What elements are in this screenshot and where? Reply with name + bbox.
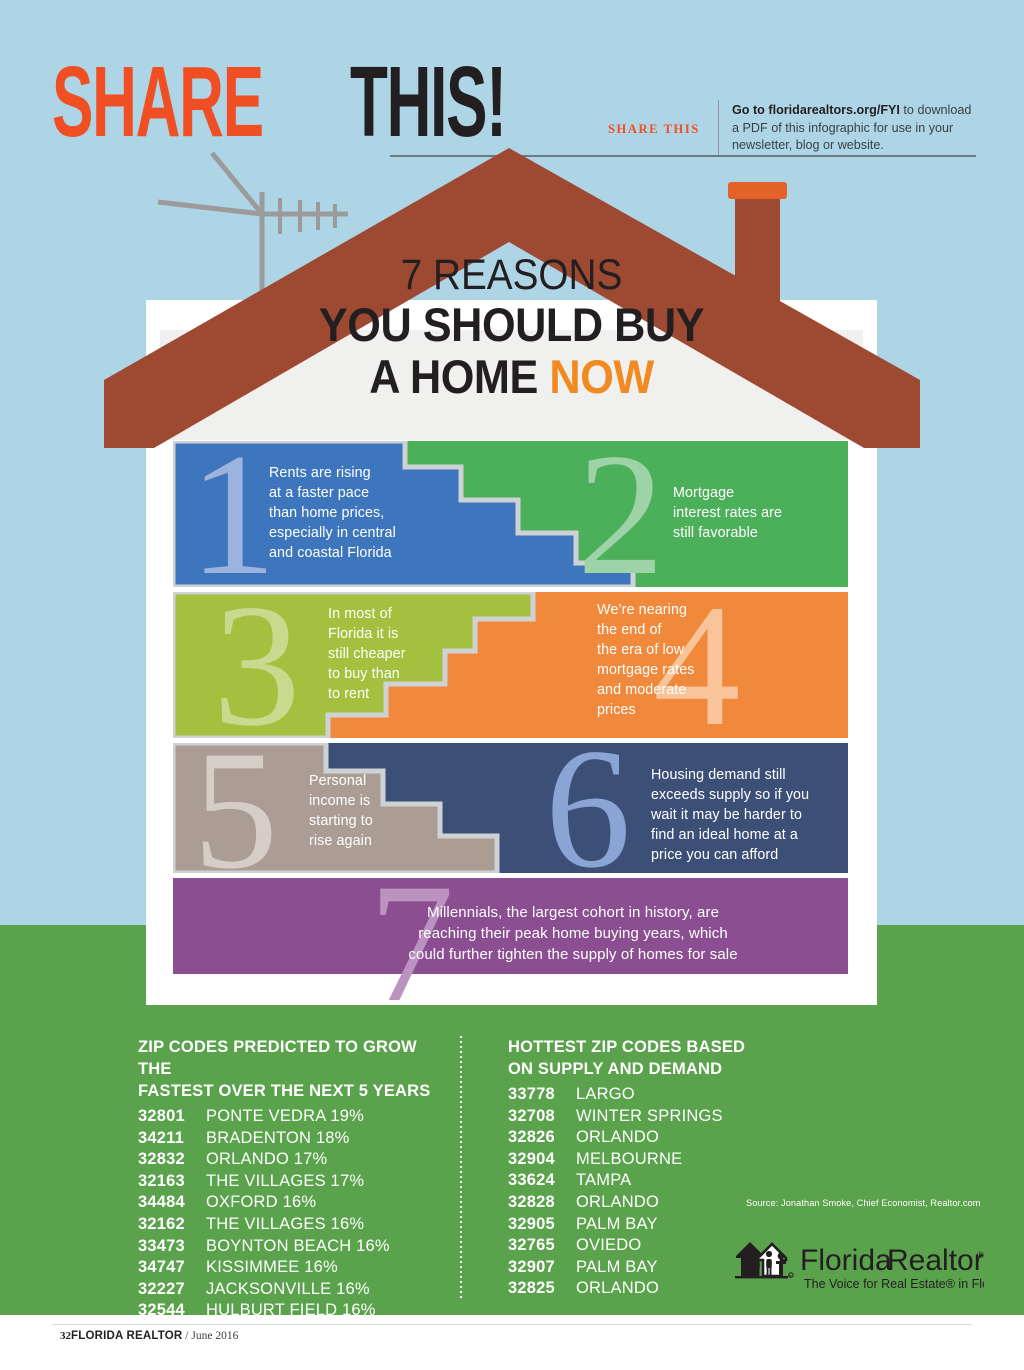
zip-city: WINTER SPRINGS bbox=[576, 1106, 723, 1128]
reason-5-text-line: rise again bbox=[309, 831, 449, 851]
reason-row-3: 5 6 Personal income is starting to rise … bbox=[173, 743, 848, 873]
logo-tagline: The Voice for Real Estate® in Florida bbox=[804, 1277, 984, 1291]
reason-3-text-line: still cheaper bbox=[328, 644, 488, 664]
page-footer: 32FLORIDA REALTOR / June 2016 bbox=[60, 1330, 238, 1342]
chimney-cap bbox=[728, 182, 787, 199]
zip-row: 32227JACKSONVILLE 16% bbox=[138, 1279, 454, 1301]
zip-code: 33473 bbox=[138, 1236, 206, 1258]
zip-list-hottest-heading: HOTTEST ZIP CODES BASED ON SUPPLY AND DE… bbox=[508, 1036, 824, 1080]
logo-wordmark-realtors: Realtors bbox=[887, 1244, 984, 1277]
zip-code: 34484 bbox=[138, 1192, 206, 1214]
reason-3-text-line: In most of bbox=[328, 604, 488, 624]
florida-realtors-logo: R Florida Realtors ® The Voice for Real … bbox=[732, 1232, 984, 1294]
reason-3-text-line: to rent bbox=[328, 684, 488, 704]
zip-row: 32904MELBOURNE bbox=[508, 1149, 824, 1171]
logo-houses-icon: R bbox=[735, 1242, 793, 1278]
reason-4-text-line: mortgage rates bbox=[597, 660, 757, 680]
zip-city: TAMPA bbox=[576, 1170, 631, 1192]
logo-wordmark-florida: Florida bbox=[800, 1244, 892, 1277]
reason-5-numeral: 5 bbox=[193, 725, 278, 895]
zip-list-growth: ZIP CODES PREDICTED TO GROW THE FASTEST … bbox=[138, 1036, 454, 1322]
reason-4-text-line: We’re nearing bbox=[597, 600, 757, 620]
reason-5-text-line: Personal bbox=[309, 771, 449, 791]
zip-row: 32163THE VILLAGES 17% bbox=[138, 1171, 454, 1193]
svg-text:R: R bbox=[789, 1274, 792, 1278]
zip-code: 32828 bbox=[508, 1192, 576, 1214]
zip-row: 34211BRADENTON 18% bbox=[138, 1128, 454, 1150]
reason-6-text-line: Housing demand still bbox=[651, 765, 851, 785]
reason-6-text: Housing demand still exceeds supply so i… bbox=[651, 765, 851, 865]
zip-city: OVIEDO bbox=[576, 1235, 641, 1257]
zip-code: 32832 bbox=[138, 1149, 206, 1171]
zip-code: 32904 bbox=[508, 1149, 576, 1171]
reason-6-text-line: exceeds supply so if you bbox=[651, 785, 851, 805]
share-this-wordmark: SHARETHIS! bbox=[52, 52, 601, 152]
zip-heading-line: ZIP CODES PREDICTED TO GROW THE bbox=[138, 1036, 454, 1080]
reason-2-text: Mortgage interest rates are still favora… bbox=[673, 483, 848, 543]
reason-4-text-line: the end of bbox=[597, 620, 757, 640]
zip-city: LARGO bbox=[576, 1084, 635, 1106]
roof-shape bbox=[104, 148, 920, 448]
zip-row: 32162THE VILLAGES 16% bbox=[138, 1214, 454, 1236]
zip-code: 32905 bbox=[508, 1214, 576, 1236]
zip-city: OXFORD 16% bbox=[206, 1192, 316, 1214]
reason-1-text-line: than home prices, bbox=[269, 503, 459, 523]
zip-city: ORLANDO 17% bbox=[206, 1149, 327, 1171]
zip-code: 32826 bbox=[508, 1127, 576, 1149]
zip-list-growth-rows: 32801PONTE VEDRA 19% 34211BRADENTON 18% … bbox=[138, 1106, 454, 1322]
zip-city: MELBOURNE bbox=[576, 1149, 682, 1171]
reason-2-text-line: interest rates are bbox=[673, 503, 848, 523]
zip-heading-line: ON SUPPLY AND DEMAND bbox=[508, 1058, 824, 1080]
zip-city: THE VILLAGES 17% bbox=[206, 1171, 364, 1193]
zip-row: 32826ORLANDO bbox=[508, 1127, 824, 1149]
footer-magazine-name: FLORIDA REALTOR bbox=[71, 1330, 182, 1342]
zip-row: 32801PONTE VEDRA 19% bbox=[138, 1106, 454, 1128]
zip-code: 34211 bbox=[138, 1128, 206, 1150]
zip-city: ORLANDO bbox=[576, 1192, 659, 1214]
zip-row: 33624TAMPA bbox=[508, 1170, 824, 1192]
reason-1-text-line: Rents are rising bbox=[269, 463, 459, 483]
reason-row-1: 1 2 Rents are rising at a faster pace th… bbox=[173, 441, 848, 587]
header-note-bold: Go to floridarealtors.org/FYI bbox=[732, 103, 900, 117]
zip-row: 33778LARGO bbox=[508, 1084, 824, 1106]
zip-row: 32832ORLANDO 17% bbox=[138, 1149, 454, 1171]
footer-date: June 2016 bbox=[191, 1330, 238, 1342]
zip-code: 32163 bbox=[138, 1171, 206, 1193]
reason-1-text-line: especially in central bbox=[269, 523, 459, 543]
reason-4-text-line: the era of low bbox=[597, 640, 757, 660]
zip-city: JACKSONVILLE 16% bbox=[206, 1279, 370, 1301]
reason-2-text-line: Mortgage bbox=[673, 483, 848, 503]
zip-heading-line: FASTEST OVER THE NEXT 5 YEARS bbox=[138, 1080, 454, 1102]
zip-city: PALM BAY bbox=[576, 1214, 658, 1236]
zip-city: PONTE VEDRA 19% bbox=[206, 1106, 364, 1128]
reason-7-text-line: reaching their peak home buying years, w… bbox=[323, 923, 823, 944]
reason-7-text-line: could further tighten the supply of home… bbox=[323, 944, 823, 965]
reason-3-text-line: to buy than bbox=[328, 664, 488, 684]
zip-code: 33624 bbox=[508, 1170, 576, 1192]
zip-city: BOYNTON BEACH 16% bbox=[206, 1236, 390, 1258]
reason-6-text-line: price you can afford bbox=[651, 845, 851, 865]
reason-2-text-line: still favorable bbox=[673, 523, 848, 543]
footer-rule bbox=[52, 1324, 972, 1325]
reason-1-text-line: and coastal Florida bbox=[269, 543, 459, 563]
zip-code: 32907 bbox=[508, 1257, 576, 1279]
reason-1-text: Rents are rising at a faster pace than h… bbox=[269, 463, 459, 563]
footer-page-number: 32 bbox=[60, 1330, 71, 1342]
wordmark-this: THIS! bbox=[350, 52, 506, 152]
reason-7-text-line: Millennials, the largest cohort in histo… bbox=[323, 902, 823, 923]
zip-code: 34747 bbox=[138, 1257, 206, 1279]
zip-code: 32708 bbox=[508, 1106, 576, 1128]
reason-5-text: Personal income is starting to rise agai… bbox=[309, 771, 449, 851]
header-note: Go to floridarealtors.org/FYI to downloa… bbox=[732, 102, 976, 155]
reason-4-text-line: and moderate bbox=[597, 680, 757, 700]
zip-city: ORLANDO bbox=[576, 1127, 659, 1149]
zip-city: THE VILLAGES 16% bbox=[206, 1214, 364, 1236]
reason-4-text: We’re nearing the end of the era of low … bbox=[597, 600, 757, 720]
share-this-label: SHARE THIS bbox=[608, 122, 700, 137]
zip-row: 34747KISSIMMEE 16% bbox=[138, 1257, 454, 1279]
zip-city: PALM BAY bbox=[576, 1257, 658, 1279]
zip-city: ORLANDO bbox=[576, 1278, 659, 1300]
reason-3-text-line: Florida it is bbox=[328, 624, 488, 644]
zip-heading-line: HOTTEST ZIP CODES BASED bbox=[508, 1036, 824, 1058]
reason-row-4: 7 Millennials, the largest cohort in his… bbox=[173, 878, 848, 974]
zip-row: 33473BOYNTON BEACH 16% bbox=[138, 1236, 454, 1258]
zip-code: 32227 bbox=[138, 1279, 206, 1301]
house-roof bbox=[104, 148, 920, 448]
reason-7-text: Millennials, the largest cohort in histo… bbox=[323, 902, 823, 965]
reasons-stack: 1 2 Rents are rising at a faster pace th… bbox=[173, 441, 848, 987]
zip-code: 33778 bbox=[508, 1084, 576, 1106]
zip-code: 32825 bbox=[508, 1278, 576, 1300]
reason-6-text-line: find an ideal home at a bbox=[651, 825, 851, 845]
zip-city: KISSIMMEE 16% bbox=[206, 1257, 338, 1279]
logo-registered-mark: ® bbox=[977, 1250, 984, 1260]
reason-6-numeral: 6 bbox=[545, 723, 631, 895]
source-attribution: Source: Jonathan Smoke, Chief Economist,… bbox=[746, 1198, 981, 1208]
reason-3-text: In most of Florida it is still cheaper t… bbox=[328, 604, 488, 704]
reason-6-text-line: wait it may be harder to bbox=[651, 805, 851, 825]
reason-2-numeral: 2 bbox=[577, 427, 665, 602]
zip-code: 32162 bbox=[138, 1214, 206, 1236]
zip-columns-divider bbox=[460, 1036, 462, 1298]
zip-row: 32708WINTER SPRINGS bbox=[508, 1106, 824, 1128]
zip-list-growth-heading: ZIP CODES PREDICTED TO GROW THE FASTEST … bbox=[138, 1036, 454, 1102]
wordmark-share: SHARE bbox=[52, 52, 263, 152]
reason-5-text-line: starting to bbox=[309, 811, 449, 831]
zip-code: 32765 bbox=[508, 1235, 576, 1257]
zip-city: BRADENTON 18% bbox=[206, 1128, 350, 1150]
reason-1-text-line: at a faster pace bbox=[269, 483, 459, 503]
infographic-page: SHARETHIS! SHARE THIS Go to floridarealt… bbox=[0, 0, 1024, 1370]
zip-code: 32801 bbox=[138, 1106, 206, 1128]
reason-5-text-line: income is bbox=[309, 791, 449, 811]
zip-row: 34484OXFORD 16% bbox=[138, 1192, 454, 1214]
